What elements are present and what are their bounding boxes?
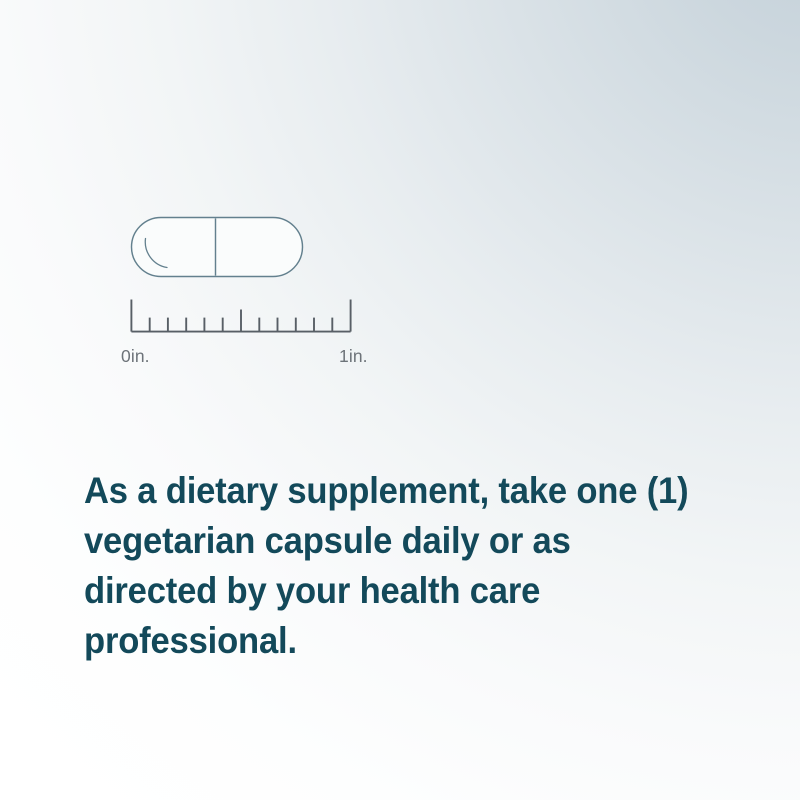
product-directions-panel: 0in. 1in. As a dietary supplement, take … — [0, 0, 800, 800]
capsule-icon — [132, 218, 303, 277]
inch-ruler-icon — [131, 300, 350, 332]
directions-text: As a dietary supplement, take one (1) ve… — [84, 466, 701, 666]
capsule-outline — [132, 218, 303, 277]
ruler-label-start: 0in. — [121, 346, 150, 367]
ruler-label-end: 1in. — [339, 346, 368, 367]
